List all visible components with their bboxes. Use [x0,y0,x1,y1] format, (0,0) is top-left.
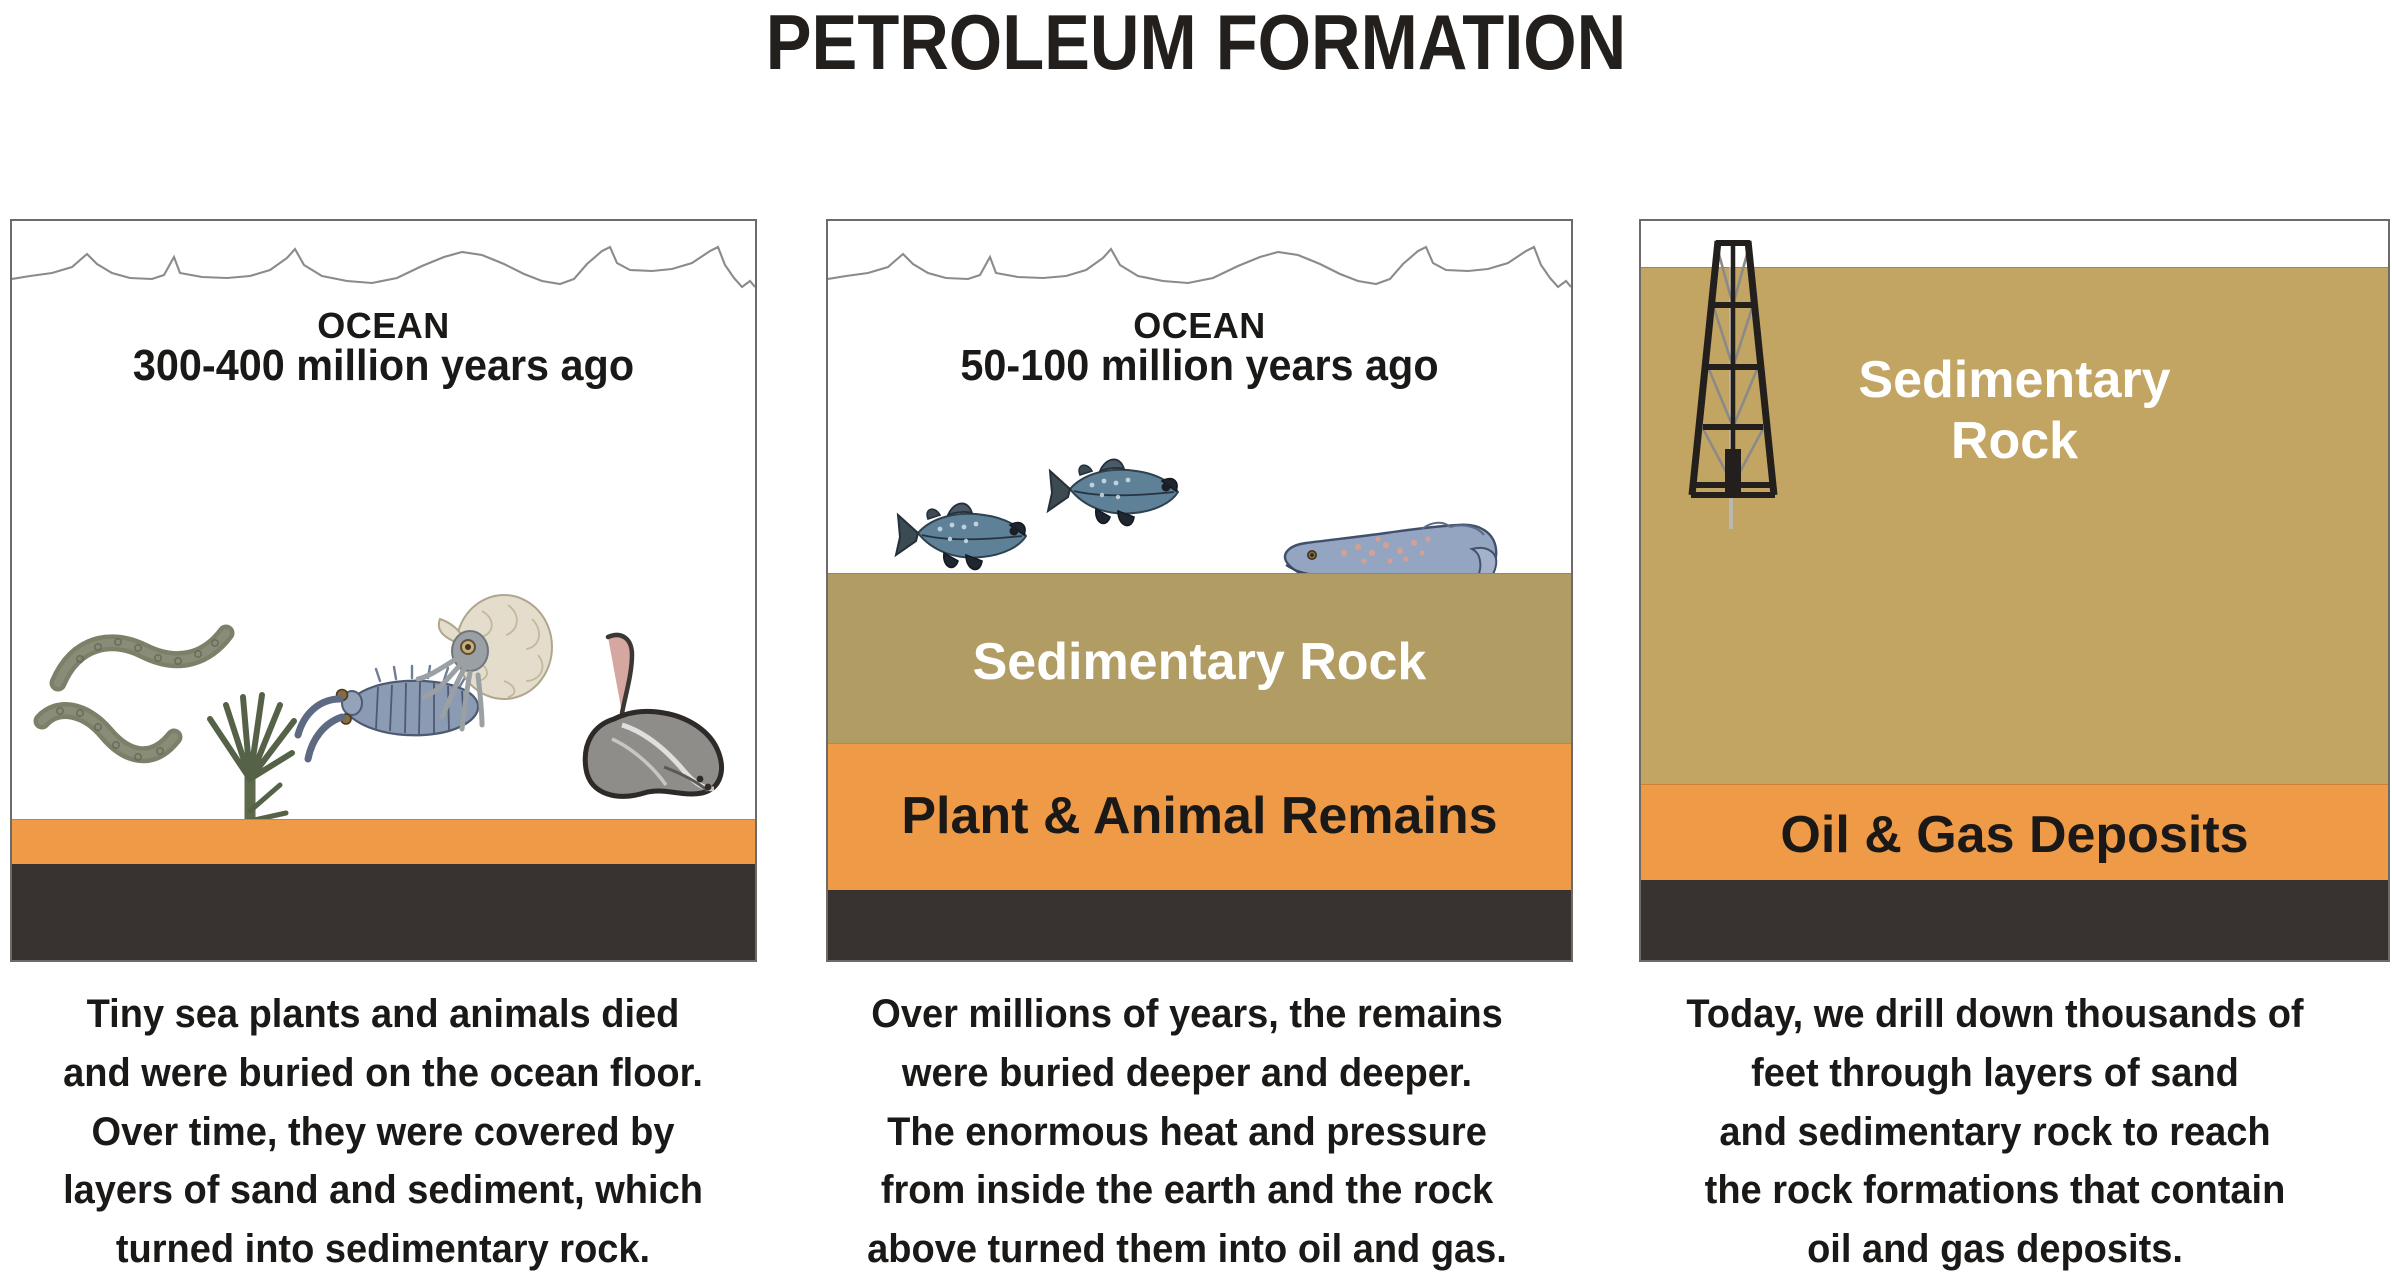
caption-panel-1: Tiny sea plants and animals died and wer… [8,985,759,1279]
layer-label-plant-animal-remains-2: Plant & Animal Remains [828,786,1571,846]
era-label-2: 50-100 million years ago [850,341,1548,391]
layer-bedrock-3 [1641,880,2388,960]
layer-bedrock-1 [12,864,755,960]
caption-panel-2: Over millions of years, the remains were… [812,985,1563,1279]
caption-panel-3: Today, we drill down thousands of feet t… [1620,985,2371,1279]
layer-label-oil-gas-deposits-3: Oil & Gas Deposits [1641,805,2388,865]
layer-sedimentary-rock-2: Sedimentary Rock [828,573,1571,744]
panel-stage-1: OCEAN 300-400 million years ago [10,219,757,962]
oil-derrick-icon [1677,227,1789,517]
panel-stage-2: OCEAN 50-100 million years ago [826,219,1573,962]
layer-bedrock-2 [828,890,1571,960]
stingray-icon [568,621,757,811]
page-title: PETROLEUM FORMATION [144,0,2249,88]
layer-plant-animal-remains-2: Plant & Animal Remains [828,743,1571,890]
coelacanth-fish-icon [1044,447,1192,537]
ammonite-icon [412,589,582,779]
layer-oil-gas-deposits-3: Oil & Gas Deposits [1641,784,2388,880]
layer-label-sedimentary-rock-2: Sedimentary Rock [828,632,1571,692]
layer-plant-animal-remains-1 [12,819,755,864]
era-label-1: 300-400 million years ago [34,341,732,391]
coelacanth-fish-icon [892,491,1040,581]
panel-stage-3: Sedimentary Rock Oil & Gas Deposits [1639,219,2390,962]
